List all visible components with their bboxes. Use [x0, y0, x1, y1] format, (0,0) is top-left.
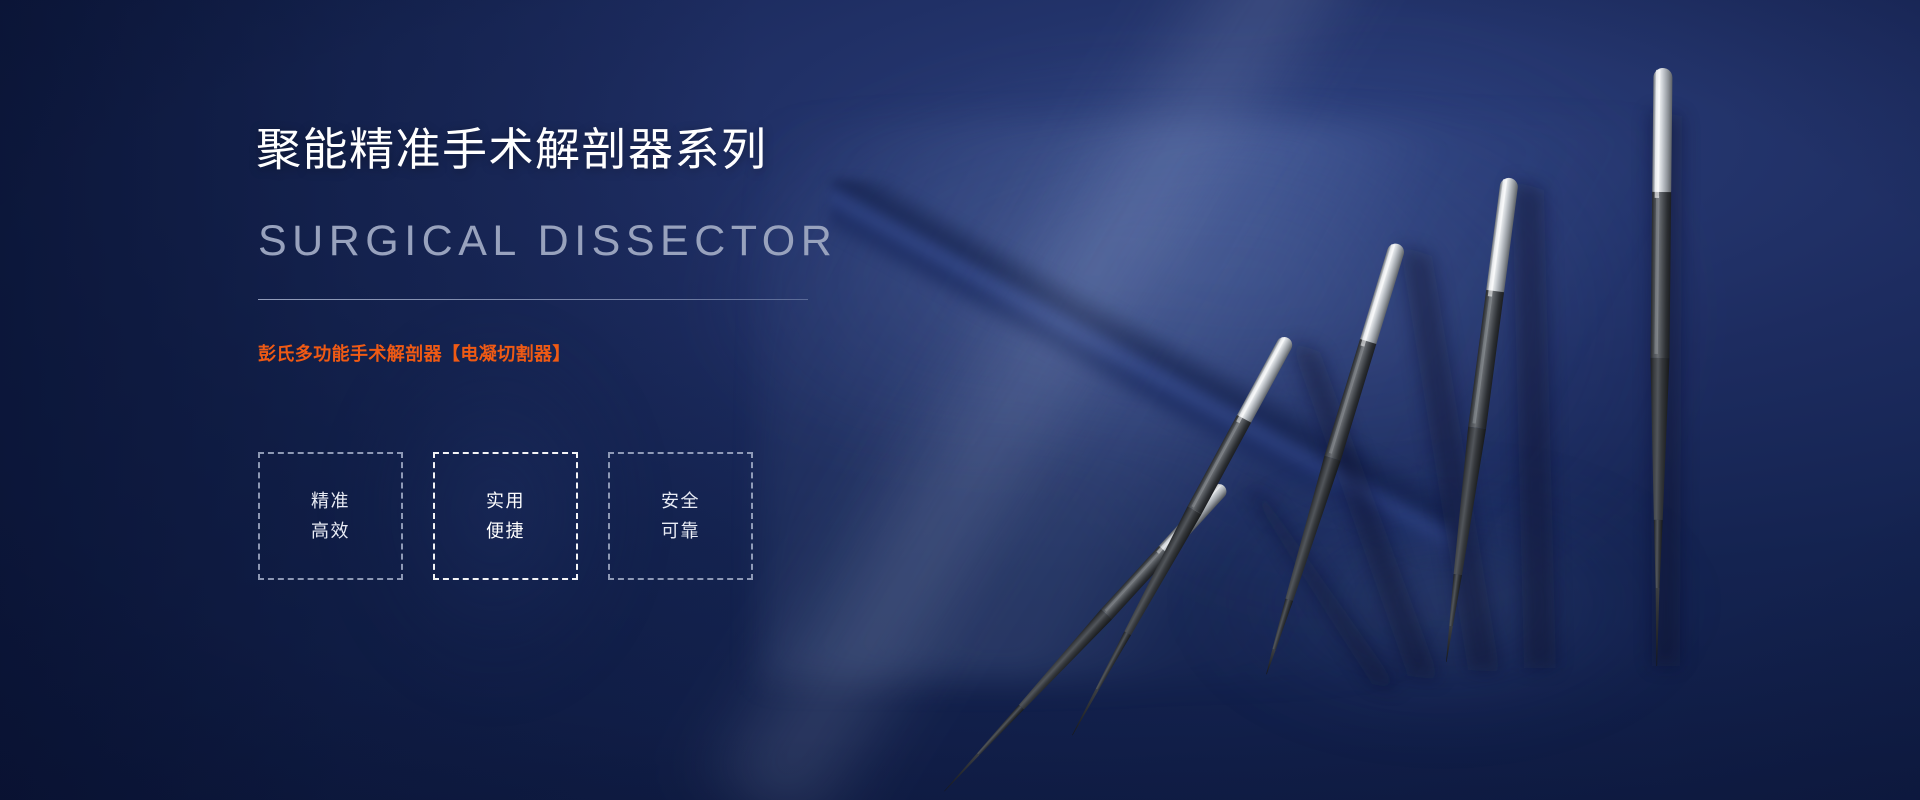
hero-banner: 聚能精准手术解剖器系列 SURGICAL DISSECTOR 彭氏多功能手术解剖…	[0, 0, 1920, 800]
page-subtitle-en: SURGICAL DISSECTOR	[258, 215, 837, 267]
feature-box-practical[interactable]: 实用 便捷	[433, 452, 578, 580]
feature-label-line1: 实用	[486, 486, 525, 516]
feature-box-group: 精准 高效 实用 便捷 安全 可靠	[258, 452, 753, 580]
hero-content: 聚能精准手术解剖器系列 SURGICAL DISSECTOR 彭氏多功能手术解剖…	[256, 0, 896, 800]
title-divider	[258, 299, 808, 300]
feature-label-line2: 高效	[311, 516, 350, 546]
feature-box-safety[interactable]: 安全 可靠	[608, 452, 753, 580]
product-name-label: 彭氏多功能手术解剖器【电凝切割器】	[258, 341, 571, 367]
feature-label-line2: 便捷	[486, 516, 525, 546]
page-title: 聚能精准手术解剖器系列	[256, 122, 768, 178]
feature-label-line1: 精准	[311, 486, 350, 516]
feature-label-line1: 安全	[661, 486, 700, 516]
feature-label-line2: 可靠	[661, 516, 700, 546]
feature-box-precision[interactable]: 精准 高效	[258, 452, 403, 580]
